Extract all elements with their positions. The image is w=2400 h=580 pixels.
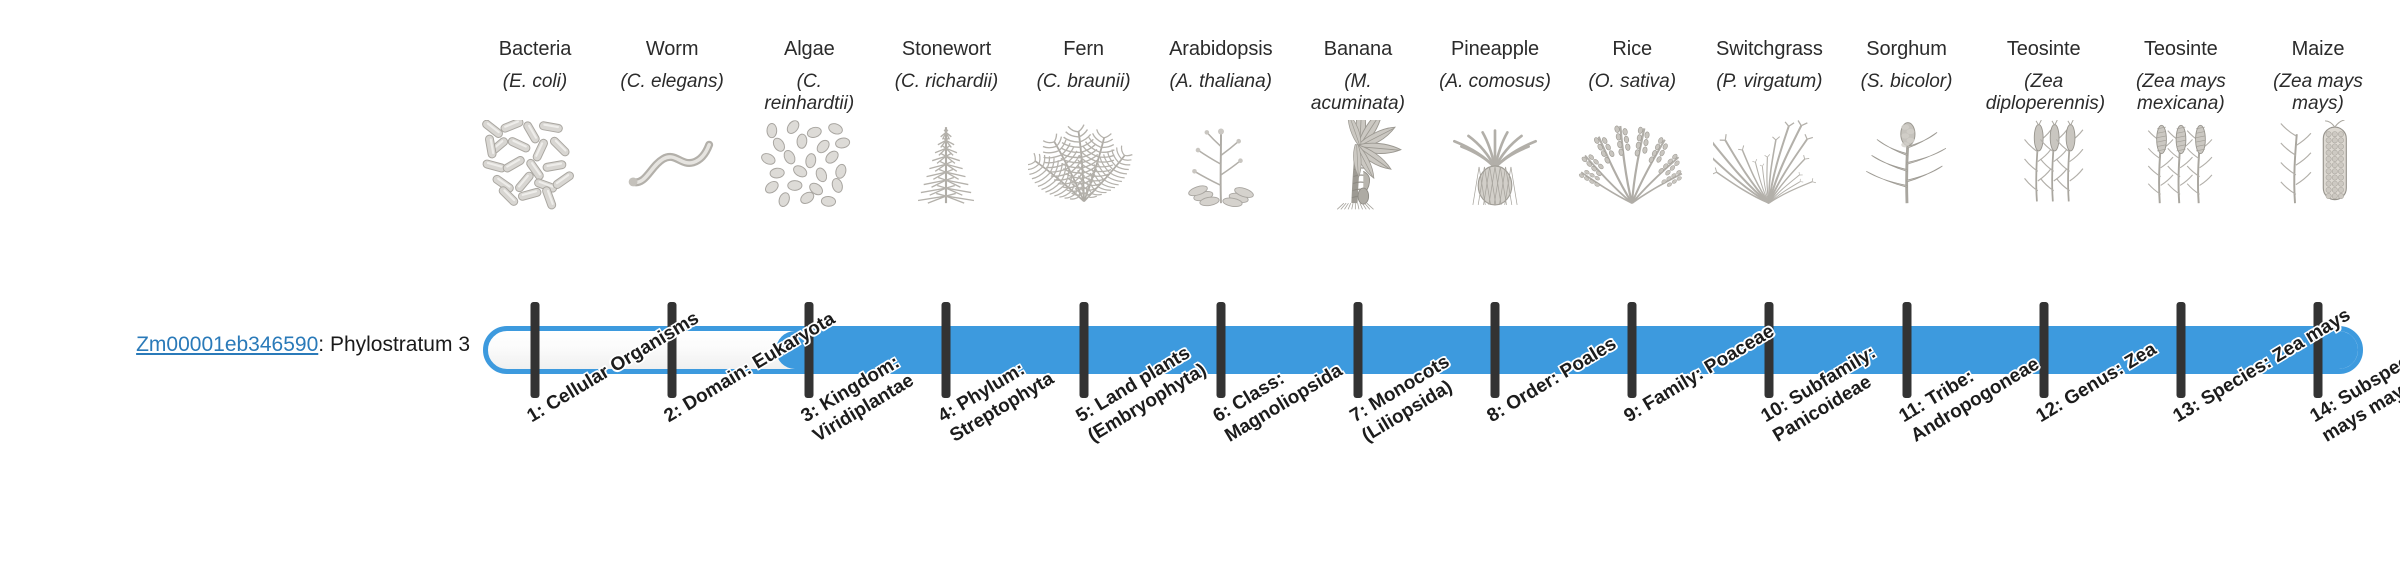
species-column: Stonewort (C. richardii) [888, 38, 1004, 93]
species-scientific-name: (Zea mays mexicana) [2123, 71, 2239, 116]
arabidopsis-icon [1165, 120, 1277, 212]
species-column: Sorghum (S. bicolor) [1849, 38, 1965, 93]
species-common-name: Pineapple [1437, 38, 1553, 61]
species-scientific-name: (C. reinhardtii) [751, 71, 867, 116]
species-common-name: Worm [614, 38, 730, 61]
species-column: Banana (M. acuminata) [1300, 38, 1416, 116]
stonewort-icon [890, 120, 1002, 212]
rice-plant-icon [1576, 120, 1688, 212]
species-column: Teosinte (Zea diploperennis) [1986, 38, 2102, 116]
bacteria-rods-icon [479, 120, 591, 212]
species-common-name: Algae [751, 38, 867, 61]
species-column: Pineapple (A. comosus) [1437, 38, 1553, 93]
species-column: Rice (O. sativa) [1574, 38, 1690, 93]
gene-phylostratum-label: Zm00001eb346590: Phylostratum 3 [0, 333, 470, 357]
phylostratum-value-text: Phylostratum 3 [330, 333, 470, 356]
species-column: Fern (C. braunii) [1026, 38, 1142, 93]
fern-frond-icon [1028, 120, 1140, 212]
species-header-row: Bacteria (E. coli) [483, 38, 2363, 293]
species-scientific-name: (C. braunii) [1026, 71, 1142, 93]
phylostratum-rank-labels: 1: Cellular Organisms2: Domain: Eukaryot… [483, 408, 2363, 580]
species-common-name: Rice [1574, 38, 1690, 61]
species-common-name: Switchgrass [1711, 38, 1827, 61]
phylostratum-timeline: Zm00001eb346590: Phylostratum 3 Bacteria… [0, 0, 2400, 580]
species-column: Switchgrass (P. virgatum) [1711, 38, 1827, 93]
switchgrass-icon [1713, 120, 1825, 212]
species-common-name: Fern [1026, 38, 1142, 61]
species-column: Bacteria (E. coli) [477, 38, 593, 93]
species-common-name: Stonewort [888, 38, 1004, 61]
banana-plant-icon [1302, 120, 1414, 212]
species-column: Algae (C. reinhardtii) [751, 38, 867, 116]
gene-accession-link[interactable]: Zm00001eb346590 [136, 333, 318, 356]
species-scientific-name: (Zea mays mays) [2260, 71, 2376, 116]
species-common-name: Sorghum [1849, 38, 1965, 61]
species-scientific-name: (O. sativa) [1574, 71, 1690, 93]
species-column: Maize (Zea mays mays) [2260, 38, 2376, 116]
species-common-name: Bacteria [477, 38, 593, 61]
species-common-name: Arabidopsis [1163, 38, 1279, 61]
species-scientific-name: (M. acuminata) [1300, 71, 1416, 116]
species-column: Worm (C. elegans) [614, 38, 730, 93]
species-scientific-name: (A. thaliana) [1163, 71, 1279, 93]
teosinte-ears-icon [1988, 120, 2100, 212]
species-scientific-name: (E. coli) [477, 71, 593, 93]
species-scientific-name: (C. elegans) [614, 71, 730, 93]
maize-ear-icon [2262, 120, 2374, 212]
species-common-name: Maize [2260, 38, 2376, 61]
species-scientific-name: (A. comosus) [1437, 71, 1553, 93]
pineapple-icon [1439, 120, 1551, 212]
species-column: Arabidopsis (A. thaliana) [1163, 38, 1279, 93]
species-common-name: Banana [1300, 38, 1416, 61]
teosinte-mexicana-icon [2125, 120, 2237, 212]
gene-label-separator: : [318, 333, 330, 356]
species-common-name: Teosinte [2123, 38, 2239, 61]
species-common-name: Teosinte [1986, 38, 2102, 61]
species-column: Teosinte (Zea mays mexicana) [2123, 38, 2239, 116]
sorghum-icon [1851, 120, 1963, 212]
species-scientific-name: (Zea diploperennis) [1986, 71, 2102, 116]
species-scientific-name: (C. richardii) [888, 71, 1004, 93]
species-scientific-name: (S. bicolor) [1849, 71, 1965, 93]
algae-cells-icon [753, 120, 865, 212]
species-scientific-name: (P. virgatum) [1711, 71, 1827, 93]
nematode-worm-icon [616, 120, 728, 212]
